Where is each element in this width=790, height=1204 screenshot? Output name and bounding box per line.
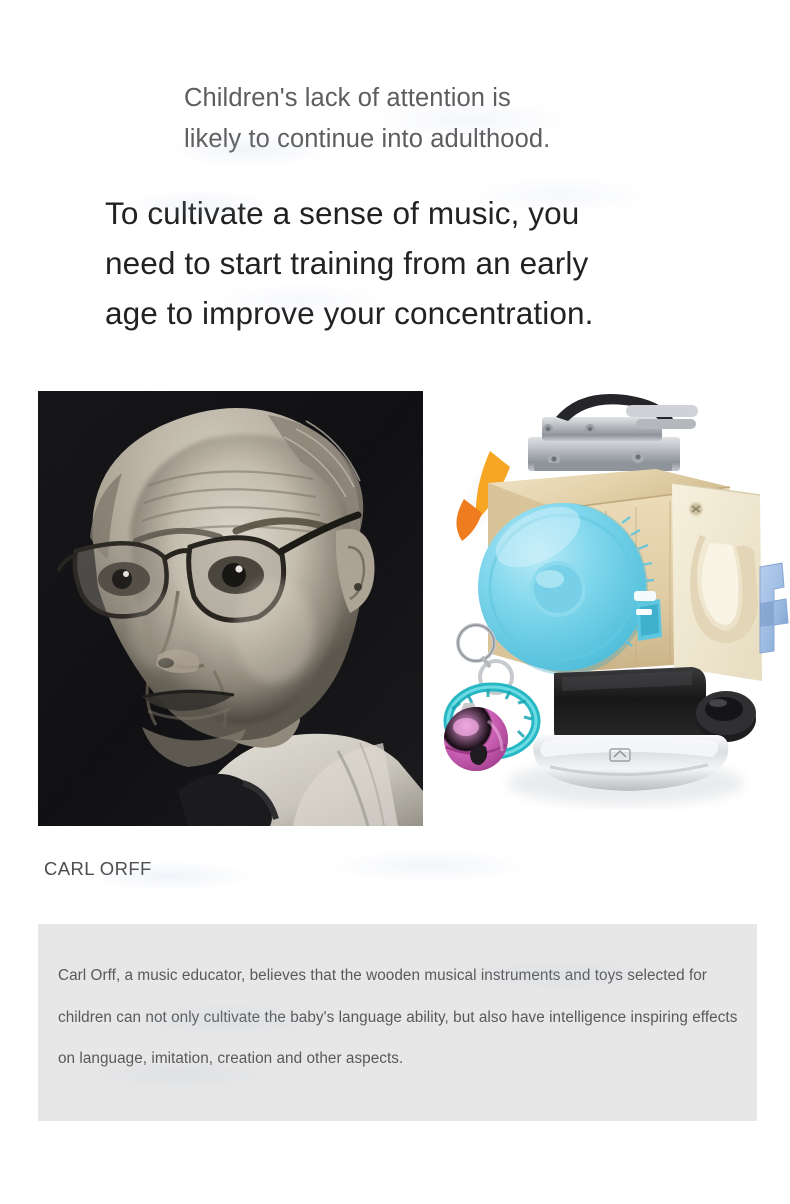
- portrait-photo-carl-orff: [38, 391, 423, 826]
- photo-caption: CARL ORFF: [44, 855, 152, 883]
- toy-photo-graphic: [430, 391, 790, 826]
- portrait-photo-graphic: [38, 391, 423, 826]
- subheading-text: Children's lack of attention is likely t…: [184, 78, 744, 160]
- note-box: Carl Orff, a music educator, believes th…: [38, 924, 757, 1121]
- photo-row: [0, 391, 790, 827]
- note-paragraph: Carl Orff, a music educator, believes th…: [58, 955, 738, 1080]
- black-knob: [696, 691, 756, 742]
- wooden-busy-cube-toy-photo: [430, 391, 790, 826]
- product-description-page: Children's lack of attention is likely t…: [0, 0, 790, 1204]
- page-title: To cultivate a sense of music, you need …: [105, 188, 705, 338]
